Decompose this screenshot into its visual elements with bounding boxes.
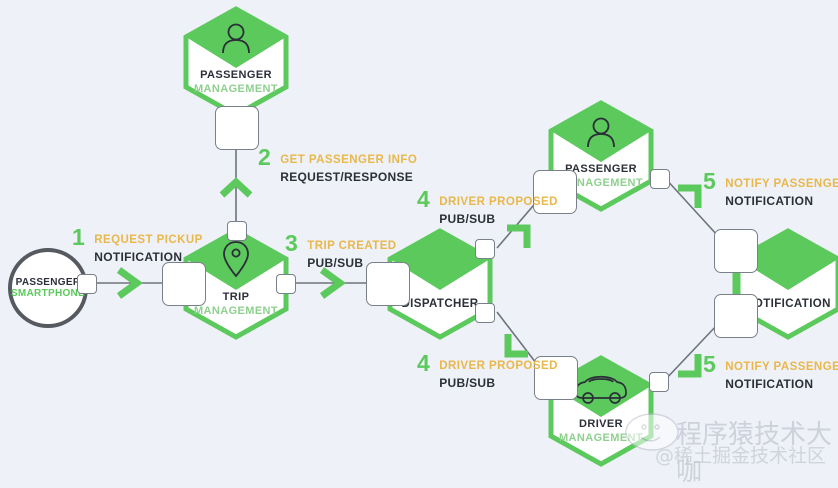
port-notification-in-lower[interactable] xyxy=(714,294,758,338)
step-subtitle: REQUEST/RESPONSE xyxy=(280,170,413,184)
step-label-4-upper: 4 DRIVER PROPOSED PUB/SUB xyxy=(417,192,558,228)
step-subtitle: NOTIFICATION xyxy=(725,377,813,391)
step-number: 4 xyxy=(417,356,430,371)
step-title: GET PASSENGER INFO xyxy=(280,154,417,166)
step-title: DRIVER PROPOSED xyxy=(439,360,558,372)
smartphone-label-line2: SMARTPHONE xyxy=(11,288,85,299)
step-subtitle: PUB/SUB xyxy=(439,376,495,390)
port-passengermgmt-top-bottom[interactable] xyxy=(215,106,259,150)
step-number: 3 xyxy=(285,236,298,251)
port-trip-in[interactable] xyxy=(162,262,206,306)
step-title: NOTIFY PASSENGER xyxy=(725,361,838,373)
step-label-2: 2 GET PASSENGER INFO REQUEST/RESPONSE xyxy=(258,150,417,186)
port-smartphone-out[interactable] xyxy=(77,274,97,294)
step-subtitle: PUB/SUB xyxy=(307,256,363,270)
step-label-5-upper: 5 NOTIFY PASSENGER NOTIFICATION xyxy=(703,174,838,210)
port-drivermgmt-out[interactable] xyxy=(649,372,669,392)
step-title: NOTIFY PASSENGER xyxy=(725,178,838,190)
step-label-1: 1 REQUEST PICKUP NOTIFICATION xyxy=(72,230,203,266)
step-subtitle: PUB/SUB xyxy=(439,212,495,226)
smartphone-label-line1: PASSENGER xyxy=(16,277,81,288)
port-notification-in-upper[interactable] xyxy=(714,229,758,273)
arrow-step-4-lower xyxy=(508,334,528,354)
step-title: TRIP CREATED xyxy=(307,240,396,252)
hexagon-shape xyxy=(180,6,292,118)
port-dispatcher-out-upper[interactable] xyxy=(475,239,495,259)
step-number: 5 xyxy=(703,174,716,189)
step-number: 5 xyxy=(703,357,716,372)
step-number: 4 xyxy=(417,192,430,207)
node-passenger-management-top[interactable]: PASSENGER MANAGEMENT xyxy=(180,6,292,118)
port-dispatcher-out-lower[interactable] xyxy=(475,303,495,323)
step-number: 1 xyxy=(72,230,85,245)
step-title: REQUEST PICKUP xyxy=(94,234,203,246)
port-passengermgmt-right-out[interactable] xyxy=(650,169,670,189)
port-trip-out[interactable] xyxy=(276,274,296,294)
step-number: 2 xyxy=(258,150,271,165)
arrow-step-4-upper xyxy=(507,228,527,248)
step-subtitle: NOTIFICATION xyxy=(94,250,182,264)
step-title: DRIVER PROPOSED xyxy=(439,196,558,208)
arrow-step-5-upper xyxy=(678,188,698,208)
step-label-4-lower: 4 DRIVER PROPOSED PUB/SUB xyxy=(417,356,558,392)
step-label-5-lower: 5 NOTIFY PASSENGER NOTIFICATION xyxy=(703,357,838,393)
step-label-3: 3 TRIP CREATED PUB/SUB xyxy=(285,236,397,272)
step-subtitle: NOTIFICATION xyxy=(725,194,813,208)
diagram-canvas: PASSENGER MANAGEMENT TRIP MANAGEMENT DIS… xyxy=(0,0,838,480)
port-trip-top[interactable] xyxy=(227,221,247,241)
